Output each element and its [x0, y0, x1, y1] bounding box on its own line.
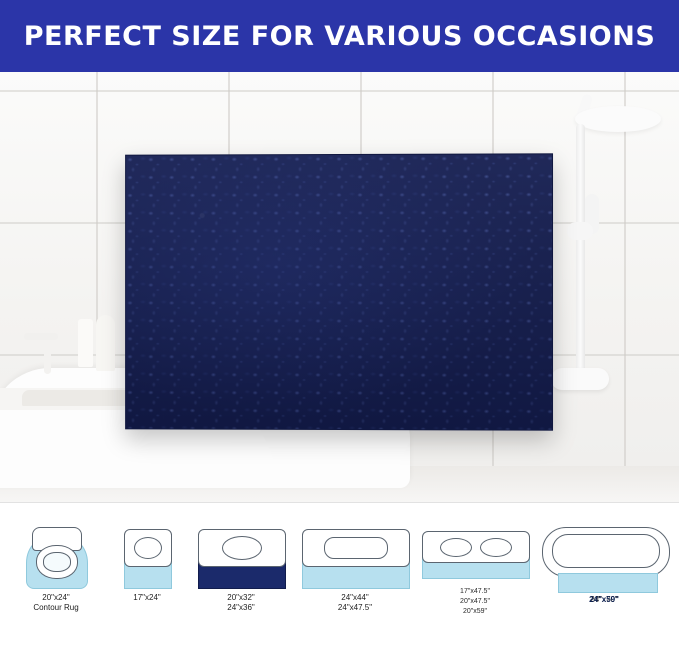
size-label-line3: 20"x59" — [416, 607, 534, 617]
size-option-vanity-sink[interactable]: 20"x32" 24"x36" — [188, 525, 294, 613]
tile-grout-line — [0, 90, 679, 92]
shower-pipe — [576, 124, 585, 374]
bathtub-basin-icon — [552, 534, 660, 568]
shower-head-icon — [575, 106, 661, 132]
size-chart-strip: 20"x24" Contour Rug 17"x24" 20"x32" 24"x… — [0, 502, 679, 649]
sink-basin-right-icon — [480, 538, 512, 557]
toilet-seat-icon — [43, 552, 71, 572]
shower-hand-shower — [567, 222, 593, 240]
size-label-line1: 17"x47.5" — [416, 587, 534, 597]
shower-valve — [551, 368, 609, 390]
long-sink-basin-icon — [324, 537, 388, 559]
oval-sink-basin-icon — [222, 536, 262, 560]
bathroom-photo — [0, 72, 679, 502]
size-option-toilet-contour[interactable]: 20"x24" Contour Rug — [10, 525, 102, 613]
size-label-line1: 24"x44" — [296, 593, 414, 603]
size-option-bathtub[interactable]: 24"x70" — [536, 525, 672, 605]
bottle — [96, 315, 115, 371]
size-option-long-vanity[interactable]: 24"x44" 24"x47.5" — [296, 525, 414, 613]
mat-shape — [558, 573, 658, 593]
double-vanity-counter-icon — [422, 531, 530, 563]
size-label-line1: 17"x24" — [104, 593, 190, 603]
size-label-line2: Contour Rug — [10, 603, 102, 613]
header-banner: PERFECT SIZE FOR VARIOUS OCCASIONS — [0, 0, 679, 72]
size-label-line1: 20"x32" — [188, 593, 294, 603]
size-option-double-vanity[interactable]: 17"x47.5" 20"x47.5" 20"x59" — [416, 525, 534, 617]
size-label-line2: 24"x47.5" — [296, 603, 414, 613]
size-label-line1: 20"x24" — [10, 593, 102, 603]
size-label-line2: 24"x36" — [188, 603, 294, 613]
sink-basin-left-icon — [440, 538, 472, 557]
size-option-pedestal-sink[interactable]: 17"x24" — [104, 525, 190, 603]
page-title: PERFECT SIZE FOR VARIOUS OCCASIONS — [24, 21, 656, 52]
faucet-spout — [24, 333, 58, 340]
tile-grout-line — [624, 72, 626, 472]
rug-shading — [126, 154, 552, 429]
size-label-line1: 24"x59" — [536, 595, 672, 605]
size-label-line2: 20"x47.5" — [416, 597, 534, 607]
navy-chenille-bath-rug — [125, 153, 553, 430]
product-infographic: PERFECT SIZE FOR VARIOUS OCCASIONS — [0, 0, 679, 649]
round-sink-basin-icon — [134, 537, 162, 559]
bottle — [78, 319, 93, 367]
bathtub-mat-label: 24"x59" — [536, 595, 672, 605]
